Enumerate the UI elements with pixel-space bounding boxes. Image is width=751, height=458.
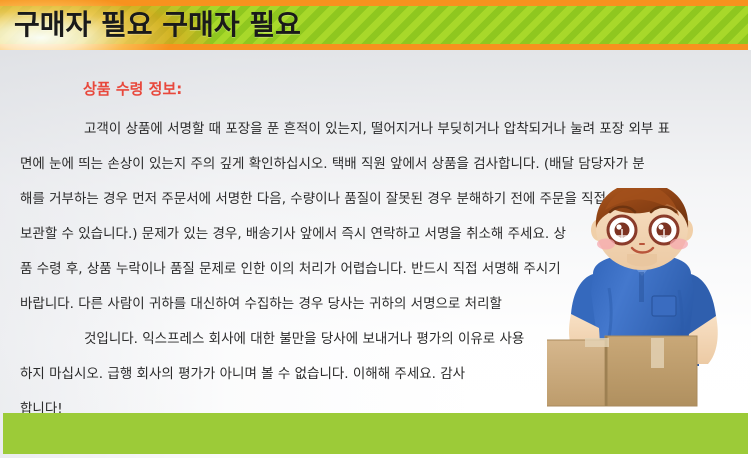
paragraph-block: 고객이 상품에 서명할 때 포장을 푼 흔적이 있는지, 떨어지거나 부딪히거나… <box>0 112 751 427</box>
paragraph-line: 면에 눈에 띄는 손상이 있는지 주의 깊게 확인하십시오. 택배 직원 앞에서… <box>0 147 751 182</box>
document-page: 구매자 필요 구매자 필요 상품 수령 정보: 고객이 상품에 서명할 때 포장… <box>0 0 751 458</box>
paragraph-line: 해를 거부하는 경우 먼저 주문서에 서명한 다음, 수량이나 품질이 잘못된 … <box>0 182 751 217</box>
paragraph-line: 고객이 상품에 서명할 때 포장을 푼 흔적이 있는지, 떨어지거나 부딪히거나… <box>0 112 751 147</box>
paragraph-line: 것입니다. 익스프레스 회사에 대한 불만을 당사에 보내거나 평가의 이유로 … <box>0 322 751 357</box>
paragraph-line: 보관할 수 있습니다.) 문제가 있는 경우, 배송기사 앞에서 즉시 연락하고… <box>0 217 751 252</box>
paragraph-line: 품 수령 후, 상품 누락이나 품질 문제로 인한 이의 처리가 어렵습니다. … <box>0 252 751 287</box>
header-banner: 구매자 필요 구매자 필요 <box>0 0 751 50</box>
document-content: 상품 수령 정보: 고객이 상품에 서명할 때 포장을 푼 흔적이 있는지, 떨… <box>0 50 751 413</box>
paragraph-line: 바랍니다. 다른 사람이 귀하를 대신하여 수집하는 경우 당사는 귀하의 서명… <box>0 287 751 322</box>
footer-bar <box>3 413 748 454</box>
section-heading: 상품 수령 정보: <box>83 78 182 99</box>
paragraph-line: 하지 마십시오. 급행 회사의 평가가 아니며 볼 수 없습니다. 이해해 주세… <box>0 357 751 392</box>
banner-title: 구매자 필요 구매자 필요 <box>14 0 301 50</box>
